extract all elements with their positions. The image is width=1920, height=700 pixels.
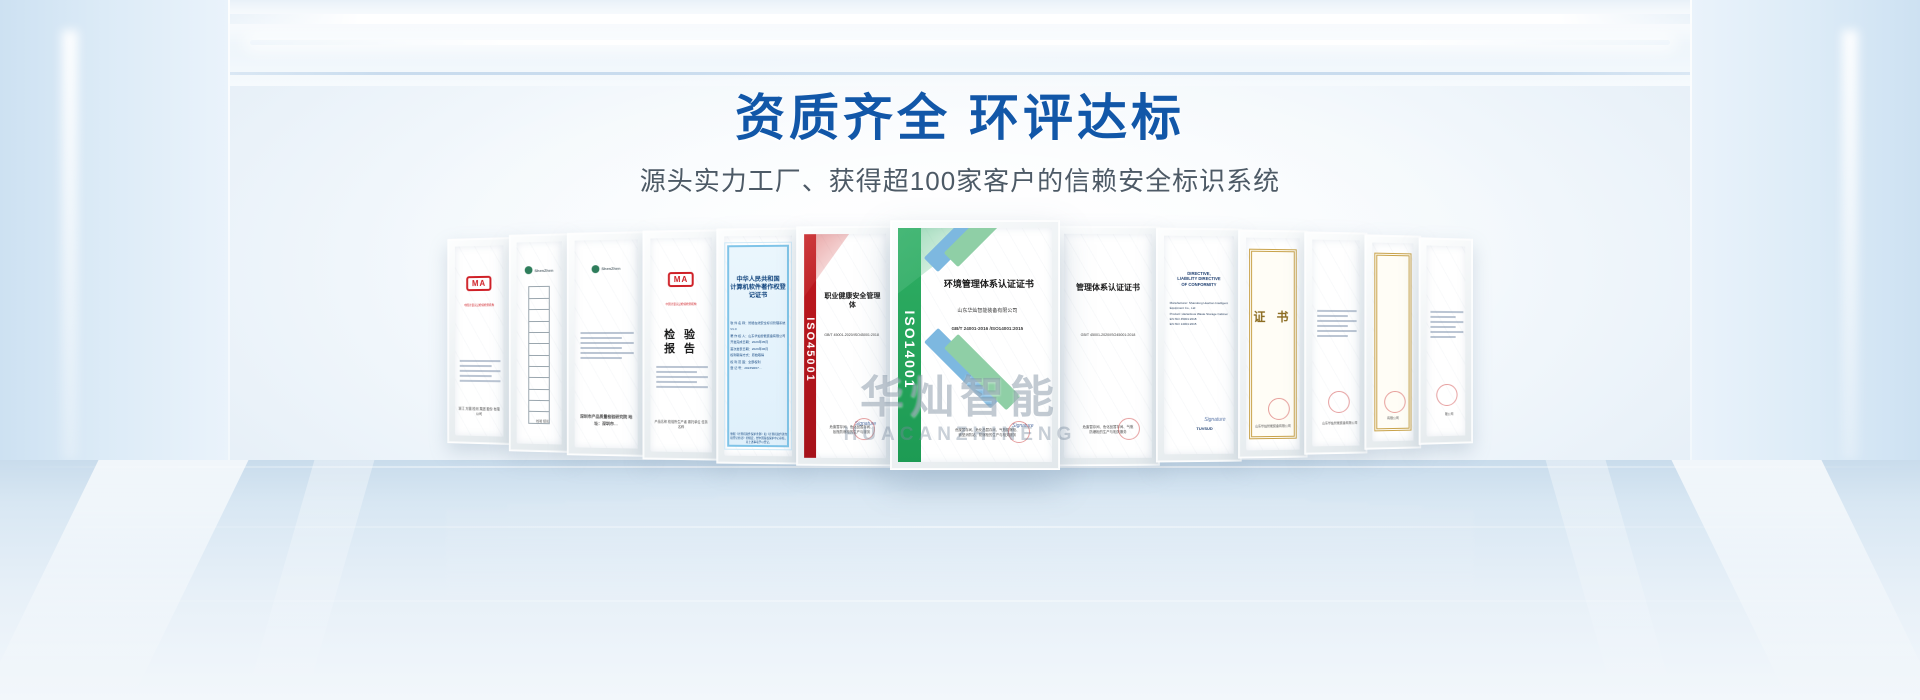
- certificate-frame[interactable]: 管理体系认证证书GB/T 45001-2020/ISO45001:2018危废暂…: [1056, 226, 1160, 467]
- page-subtitle: 源头实力工厂、获得超100家客户的信赖安全标识系统: [0, 161, 1920, 198]
- floor-reflection-beam-right: [1671, 460, 1920, 700]
- certificate-frame[interactable]: ISO45001职业健康安全管理体GB/T 45001-2020/ISO4500…: [796, 226, 894, 467]
- certificate-reflection-card: [796, 494, 894, 602]
- copyright-field: 登 记 号：2023SR07…: [730, 365, 787, 372]
- certificate-paper: 限公司: [1427, 245, 1466, 436]
- certificate-standard-code: ISO14001: [902, 310, 918, 389]
- ma-badge-label: 中国计量认证检验检测机构: [666, 302, 697, 306]
- certificate-reflection-card: [508, 504, 570, 602]
- certificate-reflection-card: [642, 499, 720, 603]
- certificate-reflection: [310, 482, 1610, 602]
- certificate-reflection-card: [1364, 506, 1422, 602]
- copyright-fields: 软 件 名 称：智能在线安全标识管理系统 V1.0著 作 权 人：山东华灿智能装…: [730, 320, 787, 372]
- ceiling-light-strip: [170, 14, 1750, 24]
- certificate-issuer: TUVSUD: [1178, 426, 1231, 433]
- floor-reflection-beam-left: [0, 460, 249, 700]
- certificate-paper: 山东华灿智能装备有限公司: [1312, 240, 1359, 447]
- certificate-company: 山东华灿智能装备有限公司: [929, 308, 1046, 316]
- certificate-reflection-card: [446, 509, 512, 602]
- certificate-issuer: 山东华灿智能装备有限公司: [1250, 424, 1295, 429]
- red-seal-stamp: [853, 418, 875, 440]
- lab-logo-icon: ShenZhen: [525, 266, 554, 274]
- red-seal-stamp: [1436, 383, 1457, 405]
- banner-stage: 资质齐全 环评达标 源头实力工厂、获得超100家客户的信赖安全标识系统 MA中国…: [0, 0, 1920, 700]
- certificate-title: 检 验 报 告: [655, 328, 707, 357]
- certificate-title: 证 书: [1250, 310, 1295, 326]
- certificate-field-lines: [581, 331, 634, 358]
- certificate-reflection-card: [1056, 494, 1160, 602]
- certificate-standard: GB/T 24001-2016 /ISO14001:2015: [929, 326, 1046, 333]
- certificate-frame[interactable]: ISO14001环境管理体系认证证书山东华灿智能装备有限公司GB/T 24001…: [890, 220, 1060, 470]
- certificate-issuer: 深圳市产品质量检验研究院 地址：深圳市…: [577, 414, 635, 428]
- certificate-frame[interactable]: MA中国计量认证检验检测机构检 验 报 告产品名称 检验所生产者 委托单位 任务…: [643, 229, 720, 460]
- certificate-frame[interactable]: ShenZhen深圳市产品质量检验研究院 地址：深圳市…: [567, 231, 646, 457]
- declaration-field: Manufacturer: Shandong HuaCan Intelligen…: [1170, 301, 1229, 311]
- certificate-frame[interactable]: ShenZhen检验 结论: [509, 233, 570, 453]
- page-title: 资质齐全 环评达标: [0, 88, 1920, 149]
- certificate-table: [528, 286, 550, 424]
- certificate-frame[interactable]: 限公司: [1419, 237, 1473, 445]
- certificate-paper: ISO14001环境管理体系认证证书山东华灿智能装备有限公司GB/T 24001…: [898, 228, 1052, 462]
- certificate-frame[interactable]: 山东华灿智能装备有限公司: [1304, 231, 1367, 454]
- certificate-title: 中华人民共和国计算机软件著作权登记证书: [730, 275, 787, 299]
- certificate-paper: ISO45001职业健康安全管理体GB/T 45001-2020/ISO4500…: [804, 234, 886, 458]
- ceiling: [0, 0, 1920, 86]
- ma-badge-icon: MA: [466, 276, 492, 291]
- ceiling-light-strip-secondary: [250, 40, 1670, 45]
- certificate-frame[interactable]: DIRECTIVE,LIABILITY DIRECTIVEOF CONFORMI…: [1156, 228, 1242, 463]
- certificate-field-lines: [656, 366, 708, 388]
- certificate-paper: 证 书山东华灿智能装备有限公司: [1246, 238, 1300, 451]
- lab-name: ShenZhen: [601, 266, 620, 271]
- lab-logo-icon: ShenZhen: [592, 265, 621, 273]
- signature-stamp: Signature: [1204, 417, 1225, 423]
- declaration-field: EN ISO 14001:2015: [1170, 322, 1229, 327]
- certificate-paper: ShenZhen深圳市产品质量检验研究院 地址：深圳市…: [575, 239, 638, 448]
- certificate-reflection-card: [716, 496, 800, 602]
- paper-watermark: [1312, 240, 1359, 447]
- certificate-paper: MA中国计量认证检验检测机构检 验 报 告产品名称 检验所生产者 委托单位 任务…: [650, 238, 712, 453]
- certificate-title: DIRECTIVE,LIABILITY DIRECTIVEOF CONFORMI…: [1170, 271, 1229, 288]
- certificate-paper: 有限公司: [1372, 243, 1413, 442]
- lab-name: ShenZhen: [534, 267, 553, 272]
- certificate-note: 依据《计算机软件保护条例》和《计算机软件著作权登记办法》的规定，经中国版权保护中…: [730, 432, 787, 445]
- certificate-standard-code: ISO45001: [804, 318, 816, 383]
- certificate-paper: 中华人民共和国计算机软件著作权登记证书软 件 名 称：智能在线安全标识管理系统 …: [724, 236, 792, 457]
- certificate-title: 职业健康安全管理体: [822, 292, 883, 310]
- certificate-paper: MA中国计量认证检验检测机构浙江 方圆 检测 集团 股份 有限 公司: [455, 245, 503, 436]
- certificate-issuer: 限公司: [1434, 412, 1463, 417]
- certificate-reflection-card: [1156, 497, 1242, 602]
- certificate-issuer: 有限公司: [1376, 416, 1411, 421]
- certificate-title: 管理体系认证证书: [1069, 283, 1146, 294]
- headline-block: 资质齐全 环评达标 源头实力工厂、获得超100家客户的信赖安全标识系统: [0, 88, 1920, 198]
- certificate-reflection-card: [1418, 509, 1474, 602]
- certificate-field-lines: [1430, 310, 1463, 337]
- ma-badge-icon: MA: [668, 272, 694, 287]
- copyright-field: 软 件 名 称：智能在线安全标识管理系统 V1.0: [730, 320, 787, 333]
- chevron-graphic: [923, 247, 1052, 392]
- certificate-frame[interactable]: 中华人民共和国计算机软件著作权登记证书软 件 名 称：智能在线安全标识管理系统 …: [716, 228, 800, 465]
- certificate-frame[interactable]: 证 书山东华灿智能装备有限公司: [1238, 229, 1307, 458]
- certificate-reflection-card: [566, 501, 646, 602]
- certificate-standard: GB/T 45001-2020/ISO45001:2018: [820, 333, 882, 338]
- certificate-paper: 管理体系认证证书GB/T 45001-2020/ISO45001:2018危废暂…: [1064, 234, 1152, 458]
- certificate-issuer: 浙江 方圆 检测 集团 股份 有限 公司: [458, 406, 501, 417]
- certificate-reflection-card: [1238, 499, 1308, 602]
- declaration-fields: Manufacturer: Shandong HuaCan Intelligen…: [1170, 301, 1229, 327]
- certificate-issuer: 山东华灿智能装备有限公司: [1322, 420, 1358, 425]
- certificate-issuer: 产品名称 检验所生产者 委托单位 任务名称: [654, 420, 708, 431]
- ma-badge-label: 中国计量认证检验检测机构: [464, 303, 494, 307]
- certificate-reflection-card: [1304, 502, 1368, 602]
- certificate-frame[interactable]: 有限公司: [1364, 234, 1421, 449]
- certificate-footer: 检验 结论: [526, 419, 560, 424]
- certificate-frame[interactable]: MA中国计量认证检验检测机构浙江 方圆 检测 集团 股份 有限 公司: [447, 237, 511, 445]
- certificate-paper: DIRECTIVE,LIABILITY DIRECTIVEOF CONFORMI…: [1164, 236, 1234, 455]
- certificate-reflection-card: [890, 492, 1060, 602]
- certificate-paper: ShenZhen检验 结论: [517, 241, 562, 444]
- red-seal-stamp: [1118, 418, 1140, 440]
- certificate-wall: MA中国计量认证检验检测机构浙江 方圆 检测 集团 股份 有限 公司ShenZh…: [310, 232, 1610, 482]
- ceiling-edge: [0, 72, 1920, 75]
- certificate-field-lines: [460, 360, 501, 382]
- certificate-standard: GB/T 45001-2020/ISO45001:2018: [1069, 333, 1146, 338]
- certificate-title: 环境管理体系认证证书: [932, 279, 1046, 291]
- paper-watermark: [1427, 245, 1466, 436]
- certificate-field-lines: [1317, 310, 1357, 337]
